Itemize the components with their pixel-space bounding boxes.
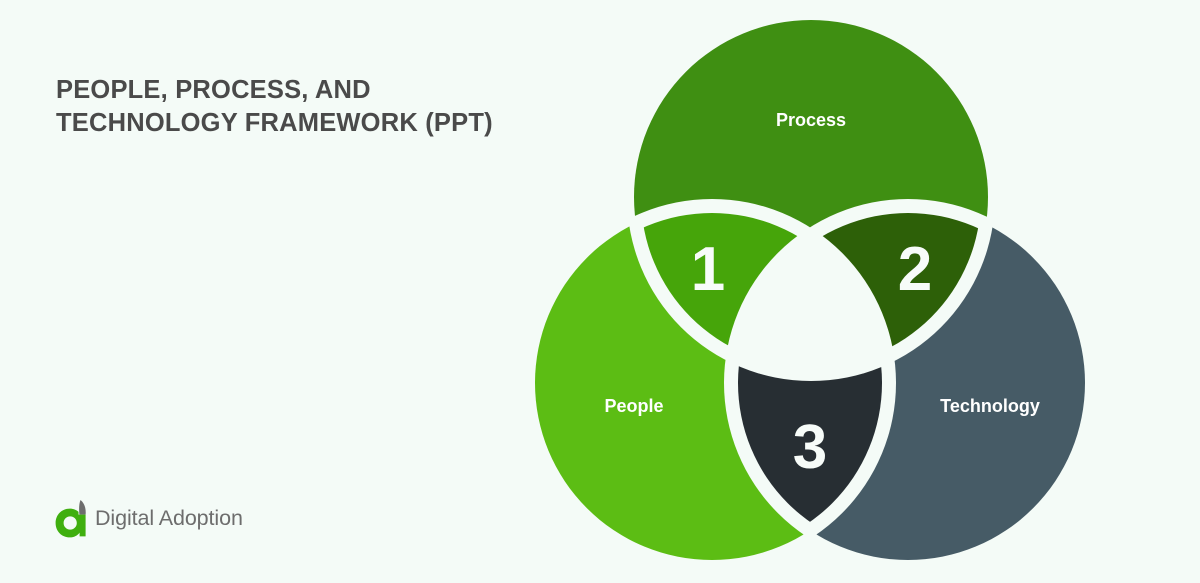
venn-diagram: Process People Technology 1 2 3 (500, 0, 1200, 583)
venn-diagram-svg: Process People Technology 1 2 3 (500, 0, 1200, 583)
digital-adoption-logo-icon (55, 498, 89, 538)
venn-region-people-technology-fill (500, 0, 1200, 583)
poster-canvas: PEOPLE, PROCESS, AND TECHNOLOGY FRAMEWOR… (0, 0, 1200, 583)
brand-name: Digital Adoption (95, 506, 243, 531)
page-title: PEOPLE, PROCESS, AND TECHNOLOGY FRAMEWOR… (56, 74, 496, 140)
venn-region-people-technology[interactable]: 3 (500, 0, 1200, 583)
venn-number-3: 3 (793, 413, 827, 482)
left-column: PEOPLE, PROCESS, AND TECHNOLOGY FRAMEWOR… (0, 0, 520, 583)
brand-logo: Digital Adoption (55, 498, 243, 538)
